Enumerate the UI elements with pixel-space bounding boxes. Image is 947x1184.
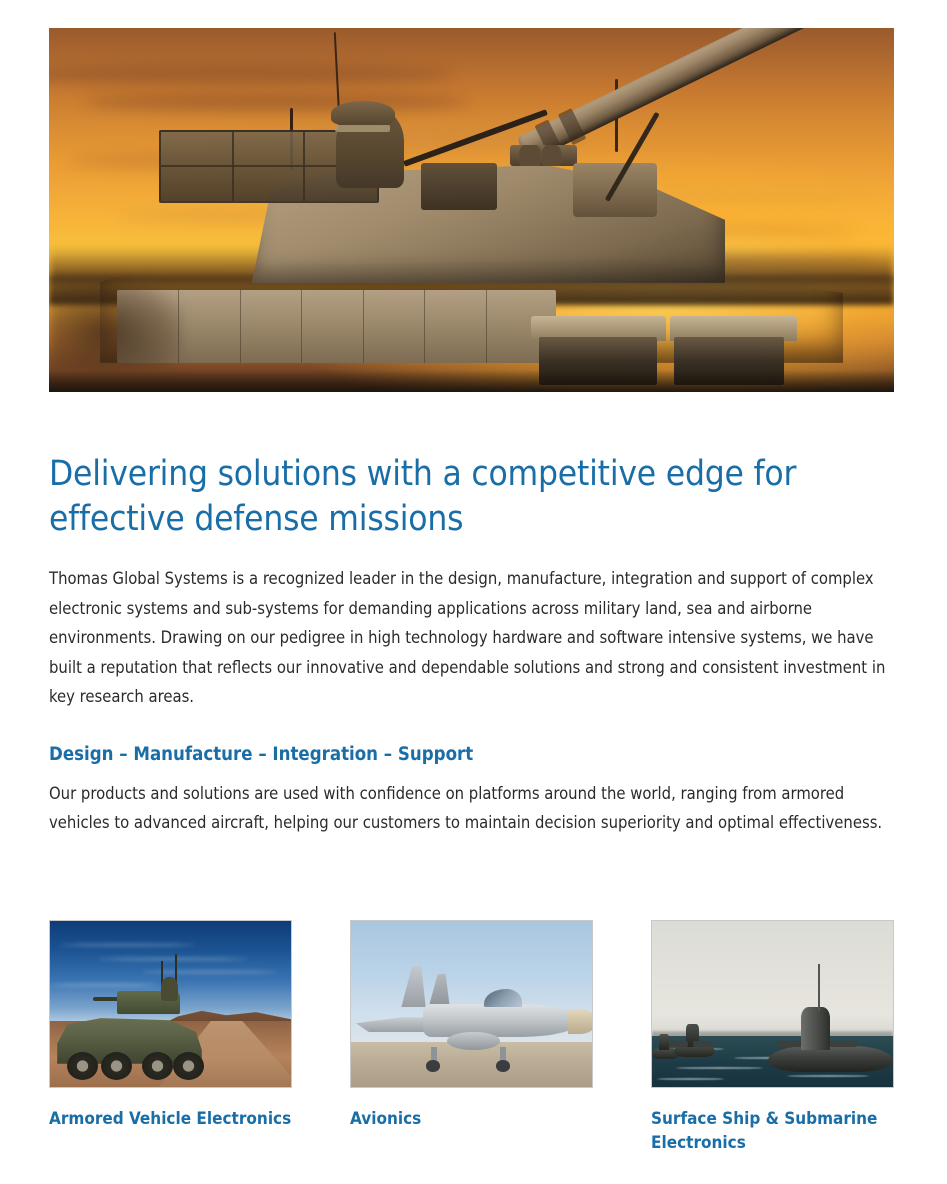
skirt-seam [301,290,302,363]
section-subheading: Design – Manufacture – Integration – Sup… [49,742,894,768]
submarine-sail [659,1034,669,1051]
submarine-periscope-mast [818,964,820,1010]
submarine-dive-plane [830,1041,857,1047]
soldier-helmet-icon [331,101,395,126]
soldier-goggles-icon [335,125,391,132]
skirt-seam [363,290,364,363]
submarine-sail [801,1007,830,1050]
content-block: Delivering solutions with a competitive … [49,452,894,838]
foreground-grass [49,370,894,392]
card-thumbnail-avionics[interactable] [350,920,593,1088]
card-avionics[interactable]: Avionics [350,920,593,1155]
page-title: Delivering solutions with a competitive … [49,452,829,542]
cloud-band [83,94,472,110]
cirrus-cloud [98,958,247,960]
intro-paragraph: Thomas Global Systems is a recognized le… [49,564,889,712]
sky [652,921,893,1037]
vehicle-crew-soldier [161,977,178,1000]
barrel-ring [558,108,586,145]
landing-gear-wheel [426,1060,440,1072]
submarine-dive-plane [777,1041,804,1047]
skirt-seam [240,290,241,363]
card-surface-ship-submarine-electronics[interactable]: Surface Ship & Submarine Electronics [651,920,894,1155]
page-root: Delivering solutions with a competitive … [0,0,947,1184]
submarine-hull [768,1046,893,1073]
card-link-armored-vehicle-electronics[interactable]: Armored Vehicle Electronics [49,1107,292,1131]
skirt-seam [424,290,425,363]
machine-gun-mount [421,163,497,210]
secondary-paragraph: Our products and solutions are used with… [49,779,889,838]
skirt-seam [486,290,487,363]
dust-haze [49,276,184,371]
card-thumbnail-armored-vehicle[interactable] [49,920,292,1088]
card-armored-vehicle-electronics[interactable]: Armored Vehicle Electronics [49,920,292,1155]
landing-gear-wheel [496,1060,510,1072]
jet-radome-nose [568,1009,593,1034]
capability-card-grid: Armored Vehicle Electronics Avionics [49,920,895,1155]
card-thumbnail-submarines[interactable] [651,920,894,1088]
smoke-grenade-launcher [510,145,578,167]
jet-fuselage [423,1004,582,1037]
hero-image [49,28,894,392]
submarine-dive-plane [669,1041,688,1047]
wave-crest [676,1067,763,1069]
card-link-avionics[interactable]: Avionics [350,1107,593,1131]
card-link-surface-ship-submarine-electronics[interactable]: Surface Ship & Submarine Electronics [651,1107,894,1155]
submarine-dive-plane [693,1041,712,1047]
